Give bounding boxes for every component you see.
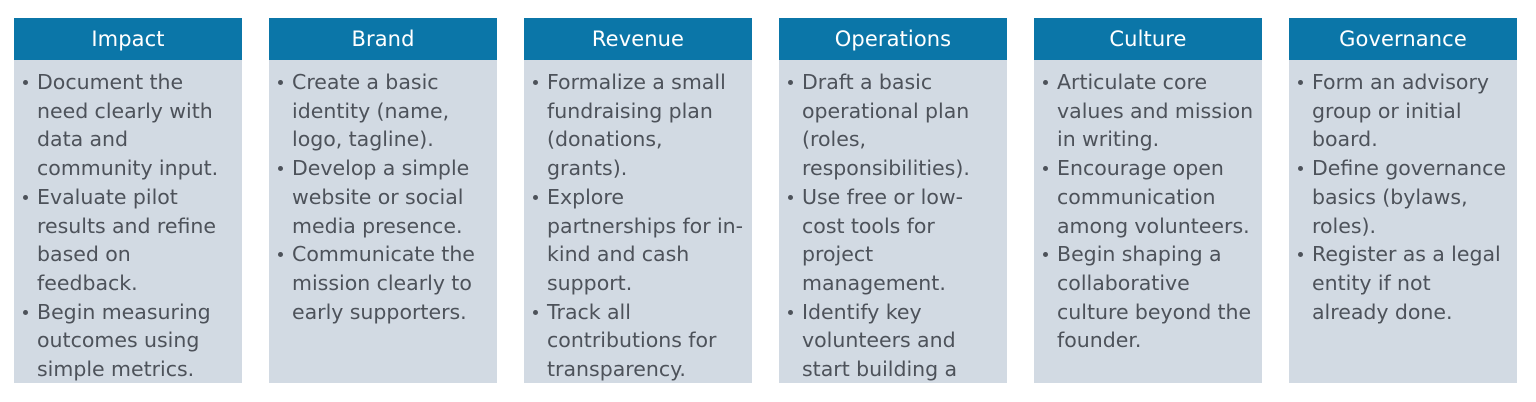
list-item-text: Create a basic identity (name, logo, tag…	[292, 70, 449, 151]
card-body-operations: Draft a basic operational plan (roles, r…	[779, 60, 1007, 383]
bullet-dot-icon	[1298, 166, 1303, 171]
list-item-text: Use free or low-cost tools for project m…	[802, 185, 963, 295]
list-item: Identify key volunteers and start buildi…	[787, 298, 999, 383]
list-item-text: Communicate the mission clearly to early…	[292, 242, 475, 323]
bullet-dot-icon	[1043, 166, 1048, 171]
list-item-text: Encourage open communication among volun…	[1057, 156, 1250, 237]
card-header-impact: Impact	[14, 18, 242, 60]
card-header-culture: Culture	[1034, 18, 1262, 60]
list-item-text: Document the need clearly with data and …	[37, 70, 218, 180]
list-item-text: Track all contributions for transparency…	[547, 300, 716, 381]
list-item: Register as a legal entity if not alread…	[1297, 240, 1509, 326]
bullet-dot-icon	[278, 252, 283, 257]
bullet-list-culture: Articulate core values and mission in wr…	[1042, 68, 1254, 355]
bullet-list-revenue: Formalize a small fundraising plan (dona…	[532, 68, 744, 383]
bullet-list-operations: Draft a basic operational plan (roles, r…	[787, 68, 999, 383]
card-header-operations: Operations	[779, 18, 1007, 60]
list-item-text: Draft a basic operational plan (roles, r…	[802, 70, 970, 180]
list-item: Create a basic identity (name, logo, tag…	[277, 68, 489, 154]
list-item: Draft a basic operational plan (roles, r…	[787, 68, 999, 183]
card-body-culture: Articulate core values and mission in wr…	[1034, 60, 1262, 383]
bullet-dot-icon	[23, 195, 28, 200]
card-column-operations[interactable]: Operations Draft a basic operational pla…	[779, 18, 1007, 383]
card-column-brand[interactable]: Brand Create a basic identity (name, log…	[269, 18, 497, 383]
bullet-dot-icon	[533, 310, 538, 315]
bullet-dot-icon	[278, 80, 283, 85]
list-item: Begin measuring outcomes using simple me…	[22, 298, 234, 383]
list-item-text: Form an advisory group or initial board.	[1312, 70, 1489, 151]
bullet-dot-icon	[278, 166, 283, 171]
list-item: Develop a simple website or social media…	[277, 154, 489, 240]
card-column-impact[interactable]: Impact Document the need clearly with da…	[14, 18, 242, 383]
bullet-dot-icon	[23, 80, 28, 85]
bullet-dot-icon	[788, 195, 793, 200]
list-item-text: Develop a simple website or social media…	[292, 156, 469, 237]
card-header-brand: Brand	[269, 18, 497, 60]
card-body-impact: Document the need clearly with data and …	[14, 60, 242, 383]
card-column-culture[interactable]: Culture Articulate core values and missi…	[1034, 18, 1262, 383]
bullet-dot-icon	[1043, 80, 1048, 85]
card-column-governance[interactable]: Governance Form an advisory group or ini…	[1289, 18, 1517, 383]
list-item: Evaluate pilot results and refine based …	[22, 183, 234, 298]
list-item: Document the need clearly with data and …	[22, 68, 234, 183]
list-item-text: Begin shaping a collaborative culture be…	[1057, 242, 1251, 352]
list-item-text: Formalize a small fundraising plan (dona…	[547, 70, 726, 180]
list-item: Define governance basics (bylaws, roles)…	[1297, 154, 1509, 240]
list-item: Use free or low-cost tools for project m…	[787, 183, 999, 298]
bullet-list-governance: Form an advisory group or initial board.…	[1297, 68, 1509, 326]
card-header-revenue: Revenue	[524, 18, 752, 60]
list-item: Explore partnerships for in-kind and cas…	[532, 183, 744, 298]
list-item: Articulate core values and mission in wr…	[1042, 68, 1254, 154]
list-item: Track all contributions for transparency…	[532, 298, 744, 383]
list-item: Begin shaping a collaborative culture be…	[1042, 240, 1254, 355]
list-item: Encourage open communication among volun…	[1042, 154, 1254, 240]
list-item-text: Explore partnerships for in-kind and cas…	[547, 185, 743, 295]
bullet-dot-icon	[23, 310, 28, 315]
card-header-governance: Governance	[1289, 18, 1517, 60]
list-item: Formalize a small fundraising plan (dona…	[532, 68, 744, 183]
list-item: Communicate the mission clearly to early…	[277, 240, 489, 326]
list-item-text: Articulate core values and mission in wr…	[1057, 70, 1253, 151]
list-item-text: Evaluate pilot results and refine based …	[37, 185, 216, 295]
list-item-text: Begin measuring outcomes using simple me…	[37, 300, 211, 381]
card-body-revenue: Formalize a small fundraising plan (dona…	[524, 60, 752, 383]
bullet-list-brand: Create a basic identity (name, logo, tag…	[277, 68, 489, 326]
bullet-dot-icon	[533, 195, 538, 200]
card-body-brand: Create a basic identity (name, logo, tag…	[269, 60, 497, 383]
card-columns-board: Impact Document the need clearly with da…	[0, 0, 1536, 402]
card-body-governance: Form an advisory group or initial board.…	[1289, 60, 1517, 383]
list-item-text: Register as a legal entity if not alread…	[1312, 242, 1501, 323]
bullet-dot-icon	[788, 310, 793, 315]
bullet-dot-icon	[1043, 252, 1048, 257]
list-item-text: Define governance basics (bylaws, roles)…	[1312, 156, 1506, 237]
bullet-dot-icon	[788, 80, 793, 85]
bullet-list-impact: Document the need clearly with data and …	[22, 68, 234, 383]
bullet-dot-icon	[1298, 252, 1303, 257]
list-item-text: Identify key volunteers and start buildi…	[802, 300, 957, 383]
card-column-revenue[interactable]: Revenue Formalize a small fundraising pl…	[524, 18, 752, 383]
bullet-dot-icon	[533, 80, 538, 85]
list-item: Form an advisory group or initial board.	[1297, 68, 1509, 154]
bullet-dot-icon	[1298, 80, 1303, 85]
